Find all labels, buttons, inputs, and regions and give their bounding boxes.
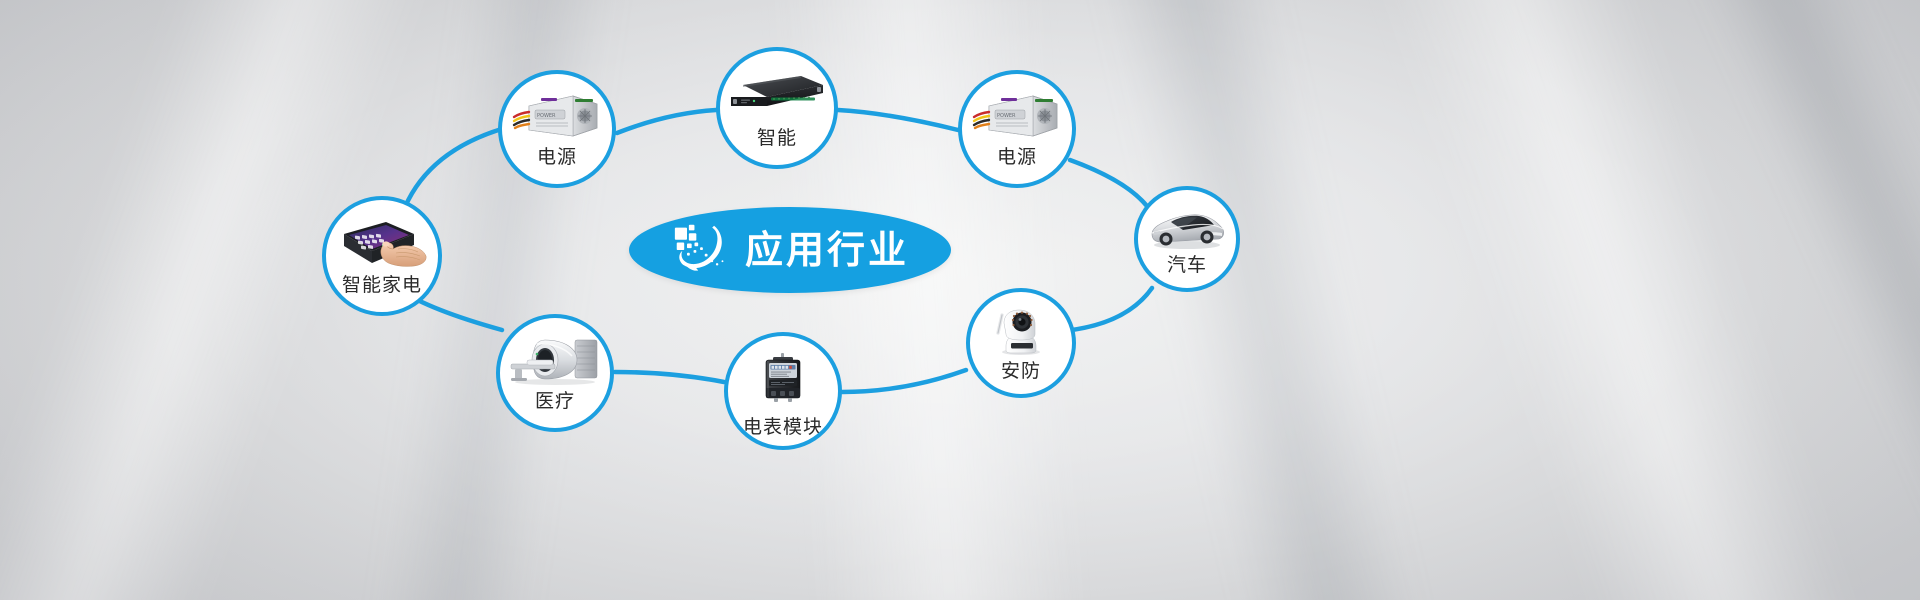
center-badge[interactable]: 应用行业 bbox=[629, 207, 951, 293]
pixel-swoosh-logo-icon bbox=[671, 222, 731, 278]
connector-smart-home-to-power-left bbox=[405, 128, 505, 207]
center-badge-title: 应用行业 bbox=[745, 231, 909, 269]
atx-power-supply-icon: POWER bbox=[962, 90, 1072, 140]
node-smart[interactable]: 智能 bbox=[716, 47, 838, 169]
connector-smart-to-power-right bbox=[838, 110, 958, 130]
node-medical[interactable]: 医疗 bbox=[496, 314, 614, 432]
node-label: 安防 bbox=[1001, 362, 1041, 381]
node-label: 医疗 bbox=[535, 392, 575, 411]
node-power-right[interactable]: POWER 电源 bbox=[958, 70, 1076, 188]
node-label: 智能家电 bbox=[342, 276, 422, 295]
node-security[interactable]: 安防 bbox=[966, 288, 1076, 398]
node-automotive[interactable]: 汽车 bbox=[1134, 186, 1240, 292]
rack-server-icon bbox=[720, 73, 834, 119]
node-label: 电表模块 bbox=[743, 418, 823, 437]
application-industries-diagram: 应用行业 POWER bbox=[0, 0, 1920, 600]
node-label: 电源 bbox=[997, 148, 1037, 167]
sports-car-icon bbox=[1138, 206, 1236, 250]
connector-ring bbox=[0, 0, 1920, 600]
node-power-left[interactable]: POWER 电源 bbox=[498, 70, 616, 188]
node-label: 智能 bbox=[757, 129, 797, 148]
node-smart-home[interactable]: 智能家电 bbox=[322, 196, 442, 316]
svg-text:POWER: POWER bbox=[997, 113, 1016, 119]
node-meter-module[interactable]: 电表模块 bbox=[724, 332, 842, 450]
tablet-touch-icon bbox=[326, 218, 438, 270]
connector-power-right-to-automotive bbox=[1070, 160, 1146, 205]
electricity-meter-icon bbox=[728, 352, 838, 410]
connector-automotive-to-security bbox=[1072, 288, 1152, 330]
connector-meter-to-medical bbox=[615, 372, 724, 382]
mri-scanner-icon bbox=[500, 336, 610, 386]
connector-security-to-meter bbox=[842, 370, 966, 392]
atx-power-supply-icon: POWER bbox=[502, 90, 612, 140]
connector-power-left-to-smart bbox=[617, 110, 716, 133]
svg-text:POWER: POWER bbox=[537, 113, 556, 119]
node-label: 电源 bbox=[537, 148, 577, 167]
ip-camera-icon bbox=[970, 306, 1072, 356]
node-label: 汽车 bbox=[1167, 256, 1207, 275]
